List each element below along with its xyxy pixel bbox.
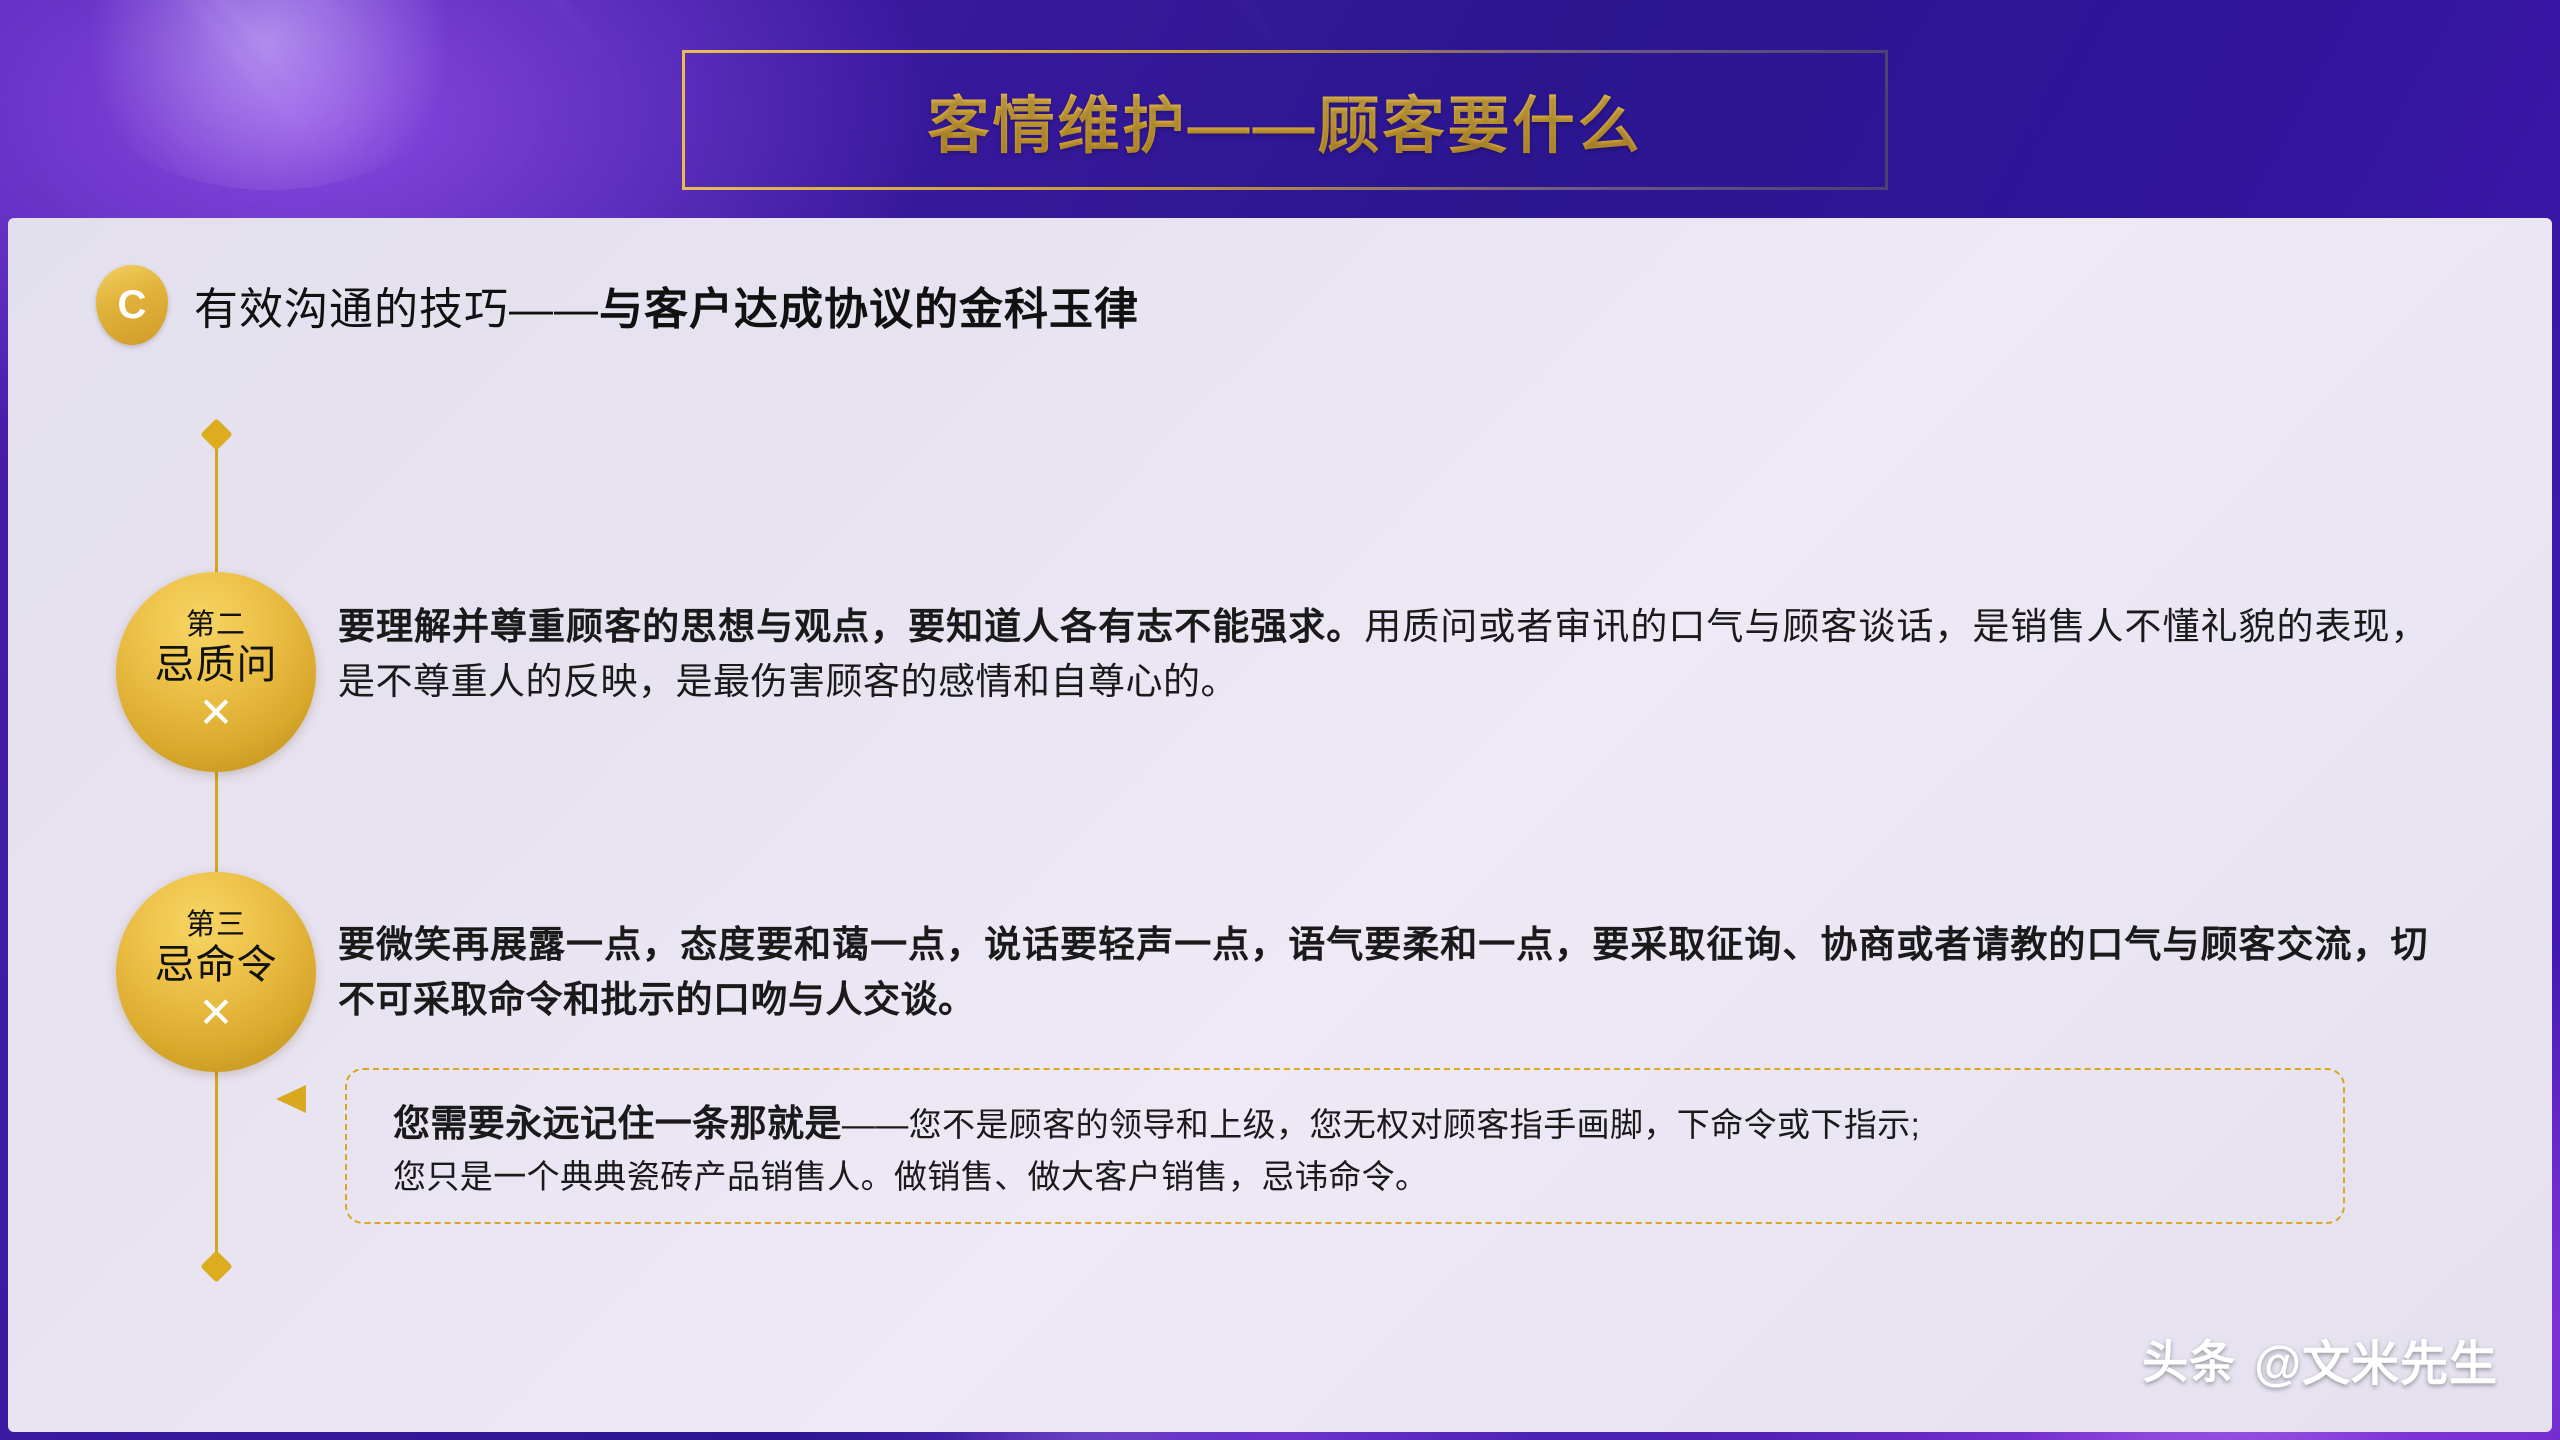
timeline-rail [215,430,218,1280]
slide-root: 客情维护——顾客要什么 C 有效沟通的技巧——与客户达成协议的金科玉律 第二 忌… [0,0,2560,1440]
step-paragraph-1-lead: 要理解并尊重顾客的思想与观点，要知道人各有志不能强求。 [338,606,1364,647]
section-title-emphasis: 与客户达成协议的金科玉律 [599,285,1139,334]
callout-arrow-icon [276,1082,310,1116]
callout-box: 您需要永远记住一条那就是——您不是顾客的领导和上级，您无权对顾客指手画脚，下命令… [345,1068,2345,1224]
page-title: 客情维护——顾客要什么 [682,50,1888,190]
callout-lead: 您需要永远记住一条那就是 [393,1103,842,1144]
watermark-brand: 头条 [2142,1326,2236,1392]
step-ordinal: 第二 [186,610,246,640]
section-title-plain: 有效沟通的技巧—— [194,285,599,334]
section-badge: C [96,265,168,345]
content-panel [8,218,2552,1432]
step-paragraph-1: 要理解并尊重顾客的思想与观点，要知道人各有志不能强求。用质问或者审讯的口气与顾客… [338,600,2428,710]
slide-header: 客情维护——顾客要什么 [0,0,2560,218]
section-heading: C 有效沟通的技巧——与客户达成协议的金科玉律 [96,265,1139,345]
callout-line-2: 您只是一个典典瓷砖产品销售人。做销售、做大客户销售，忌讳命令。 [393,1152,2309,1202]
watermark: 头条 @文米先生 [2142,1324,2498,1394]
callout-line-1: 您需要永远记住一条那就是——您不是顾客的领导和上级，您无权对顾客指手画脚，下命令… [393,1096,2309,1152]
timeline-step-circle-2[interactable]: 第三 忌命令 ✕ [116,872,316,1072]
timeline-step-circle-1[interactable]: 第二 忌质问 ✕ [116,572,316,772]
cross-icon: ✕ [198,692,233,734]
section-title: 有效沟通的技巧——与客户达成协议的金科玉律 [194,273,1139,337]
watermark-handle: @文米先生 [2254,1324,2498,1394]
cross-icon: ✕ [198,992,233,1034]
step-paragraph-2: 要微笑再展露一点，态度要和蔼一点，说话要轻声一点，语气要柔和一点，要采取征询、协… [338,918,2428,1028]
step-keyword: 忌质问 [155,642,278,688]
step-keyword: 忌命令 [155,942,278,988]
callout-line-1-rest: ——您不是顾客的领导和上级，您无权对顾客指手画脚，下命令或下指示; [842,1106,1920,1143]
step-ordinal: 第三 [186,910,246,940]
